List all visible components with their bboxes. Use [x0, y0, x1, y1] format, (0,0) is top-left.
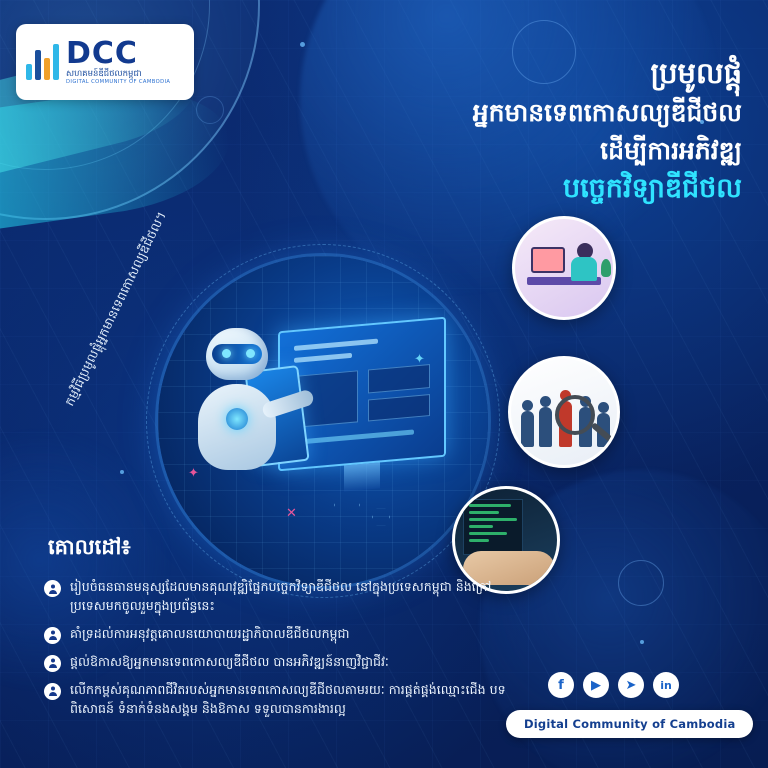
goals-title: គោលដៅ៖ — [48, 534, 131, 565]
facebook-icon[interactable]: f — [548, 672, 574, 698]
decor-dot — [120, 470, 124, 474]
logo-english-name: DIGITAL COMMUNITY OF CAMBODIA — [66, 79, 170, 85]
sparkle-icon: ✦ — [188, 466, 199, 481]
person-bullet-icon — [44, 627, 61, 644]
social-links[interactable]: f ▶ ➤ in — [548, 672, 679, 698]
decor-dot — [640, 640, 644, 644]
poster-root: DCC សហគមន៍ឌីជីថលកម្ពុជា DIGITAL COMMUNIT… — [0, 0, 768, 768]
sparkle-icon: ✕ — [286, 506, 297, 521]
photo-talent-search-magnifier — [508, 356, 620, 468]
goal-item: គាំទ្រដល់ការអនុវត្តគោលនយោបាយរដ្ឋាភិបាលឌី… — [44, 625, 514, 644]
person-bullet-icon — [44, 580, 61, 597]
logo-text-block: DCC សហគមន៍ឌីជីថលកម្ពុជា DIGITAL COMMUNIT… — [66, 39, 170, 86]
person-bullet-icon — [44, 655, 61, 672]
logo-card: DCC សហគមន៍ឌីជីថលកម្ពុជា DIGITAL COMMUNIT… — [16, 24, 194, 100]
goal-text: រៀបចំធនធានមនុស្សដែលមានគុណវុឌ្ឍិផ្នែកបច្ច… — [70, 578, 514, 616]
person-bullet-icon — [44, 683, 61, 700]
goal-item: ផ្តល់ឱកាសឱ្យអ្នកមានទេពកោសល្យឌីជីថល បានអភ… — [44, 653, 514, 672]
linkedin-icon[interactable]: in — [653, 672, 679, 698]
headline-line-2: អ្នកមានទេពកោសល្យឌីជីថល — [312, 94, 742, 132]
monitor-stand — [344, 462, 380, 491]
goal-text: លើកកម្ពស់គុណភាពជីវិតរបស់អ្នកមានទេពកោសល្យ… — [70, 681, 514, 719]
goals-list: រៀបចំធនធានមនុស្សដែលមានគុណវុឌ្ឍិផ្នែកបច្ច… — [44, 578, 514, 728]
robot-eye-right — [246, 349, 255, 358]
robot-eye-left — [222, 349, 231, 358]
decor-ring-small — [618, 560, 664, 606]
youtube-icon[interactable]: ▶ — [583, 672, 609, 698]
logo-khmer-name: សហគមន៍ឌីជីថលកម្ពុជា — [66, 69, 170, 80]
robot-core-light — [226, 408, 248, 430]
decor-ring-tiny — [196, 96, 224, 124]
headline-line-1: ប្រមូលផ្តុំ — [312, 52, 742, 94]
telegram-icon[interactable]: ➤ — [618, 672, 644, 698]
headline-block: ប្រមូលផ្តុំ អ្នកមានទេពកោសល្យឌីជីថល ដើម្ប… — [312, 52, 742, 208]
hero-illustration: ✦ ✕ ✦ — [158, 256, 488, 586]
decor-dot — [300, 42, 305, 47]
headline-line-4: បច្ចេកវិទ្យាឌីជីថល — [312, 169, 742, 208]
goal-item: រៀបចំធនធានមនុស្សដែលមានគុណវុឌ្ឍិផ្នែកបច្ច… — [44, 578, 514, 616]
sparkle-icon: ✦ — [414, 352, 425, 367]
logo-abbreviation: DCC — [66, 39, 170, 69]
goal-item: លើកកម្ពស់គុណភាពជីវិតរបស់អ្នកមានទេពកោសល្យ… — [44, 681, 514, 719]
magnifier-icon — [555, 395, 595, 435]
logo-bars-icon — [26, 44, 59, 80]
footer-brand-pill: Digital Community of Cambodia — [506, 710, 753, 738]
goal-text: ផ្តល់ឱកាសឱ្យអ្នកមានទេពកោសល្យឌីជីថល បានអភ… — [70, 653, 389, 672]
photo-woman-at-desk — [512, 216, 616, 320]
headline-line-3: ដើម្បីការអភិវឌ្ឍ — [312, 132, 742, 170]
goal-text: គាំទ្រដល់ការអនុវត្តគោលនយោបាយរដ្ឋាភិបាលឌី… — [70, 625, 350, 644]
